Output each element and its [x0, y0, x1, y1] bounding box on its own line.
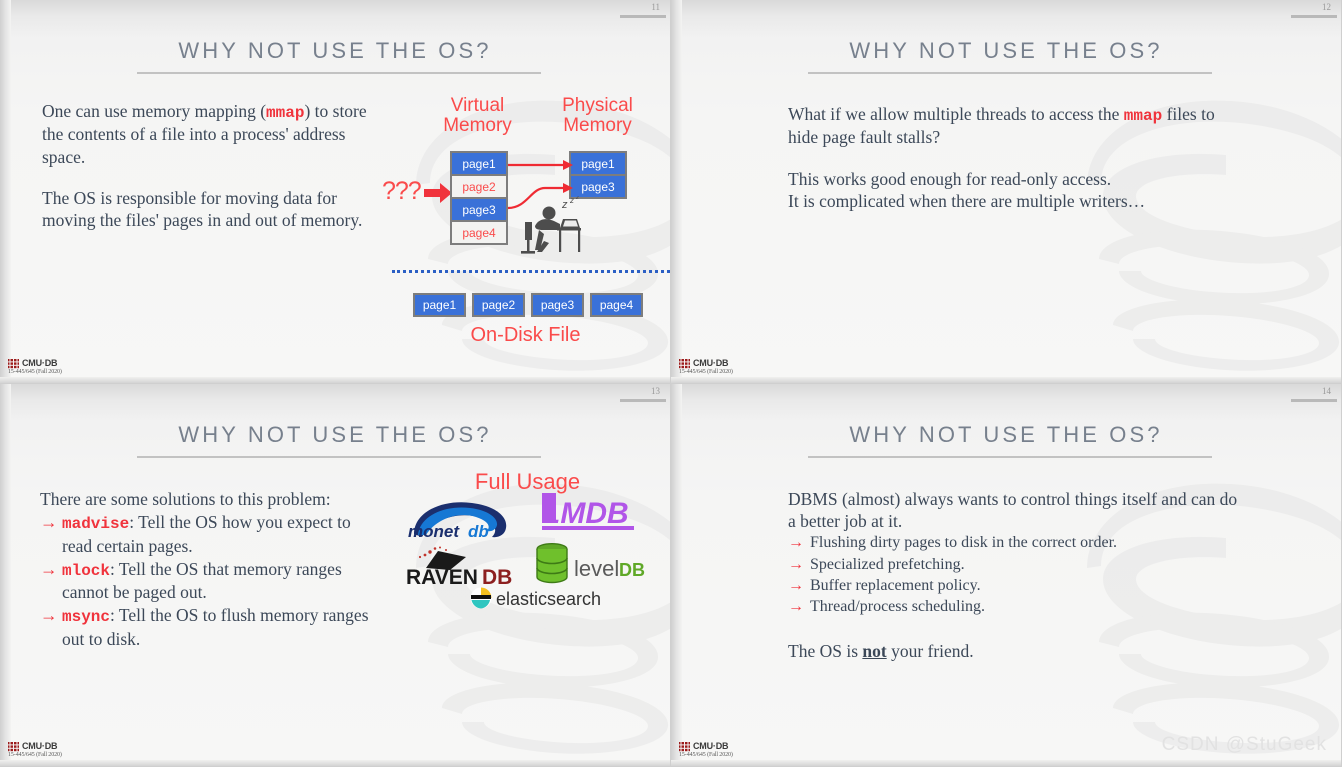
page-number: 13 — [651, 386, 660, 396]
closing-lead: The OS is — [788, 641, 862, 661]
svg-text:RAVEN: RAVEN — [406, 566, 478, 586]
course-label: 15-445/645 (Fall 2020) — [679, 752, 733, 758]
slide-12-body: What if we allow multiple threads to acc… — [788, 103, 1238, 212]
mlock-code: mlock — [62, 562, 110, 580]
slide-footer: CMU·DB 15-445/645 (Fall 2020) — [8, 740, 62, 758]
slide-grid: 11 WHY NOT USE THE OS? One can use memor… — [0, 0, 1342, 767]
closing-tail: your friend. — [887, 641, 974, 661]
monetdb-logo: monet db — [406, 497, 516, 547]
paragraph-2: The OS is responsible for moving data fo… — [42, 187, 387, 231]
page-number-rule — [620, 399, 666, 402]
bullet-text: Specialized prefetching. — [810, 556, 965, 573]
page-number-rule — [1291, 399, 1337, 402]
dbms-control-list: →Flushing dirty pages to disk in the cor… — [788, 533, 1238, 617]
list-item: →Flushing dirty pages to disk in the cor… — [788, 533, 1238, 553]
slide-13[interactable]: 13 WHY NOT USE THE OS? There are some so… — [0, 384, 671, 767]
virtual-page-stack: page1 page2 page3 page4 — [450, 153, 508, 245]
msync-code: msync — [62, 608, 110, 626]
mmap-code: mmap — [266, 104, 304, 122]
slide-footer: CMU·DB 15-445/645 (Fall 2020) — [679, 740, 733, 758]
sleeping-person-icon: z z z — [513, 196, 585, 263]
slide-11[interactable]: 11 WHY NOT USE THE OS? One can use memor… — [0, 0, 671, 384]
course-label: 15-445/645 (Fall 2020) — [8, 752, 62, 758]
lmdb-logo: LMDB — [540, 491, 638, 538]
virtual-page-4[interactable]: page4 — [450, 220, 508, 245]
physical-memory-label: PhysicalMemory — [545, 96, 650, 136]
closing-statement: The OS is not your friend. — [788, 640, 1238, 662]
arrow-glyph: → — [40, 604, 58, 626]
list-item: →msync: Tell the OS to flush memory rang… — [40, 604, 375, 650]
paragraph-2-line-2: It is complicated when there are multipl… — [788, 190, 1238, 212]
slide-11-body: One can use memory mapping (mmap) to sto… — [42, 100, 387, 231]
paragraph-1: One can use memory mapping (mmap) to sto… — [42, 100, 387, 168]
cmudb-logo-icon — [8, 357, 19, 368]
cmudb-logo-icon — [8, 740, 19, 751]
page-number: 12 — [1322, 2, 1331, 12]
para1-lead: One can use memory mapping ( — [42, 101, 266, 121]
arrow-glyph: → — [40, 558, 58, 580]
title-rule — [808, 456, 1212, 458]
slide-title: WHY NOT USE THE OS? — [0, 422, 670, 448]
cmudb-logo-icon — [679, 740, 690, 751]
svg-text:elasticsearch: elasticsearch — [496, 589, 601, 609]
slide-title: WHY NOT USE THE OS? — [671, 422, 1341, 448]
course-label: 15-445/645 (Fall 2020) — [8, 369, 62, 375]
slide-12[interactable]: 12 WHY NOT USE THE OS? What if we allow … — [671, 0, 1342, 384]
slide-title: WHY NOT USE THE OS? — [0, 38, 670, 64]
virtual-page-2[interactable]: page2 — [450, 174, 508, 199]
svg-text:z: z — [569, 196, 574, 205]
slide-footer: CMU·DB 15-445/645 (Fall 2020) — [8, 357, 62, 375]
page-number-rule — [1291, 15, 1337, 18]
bullet-text: Buffer replacement policy. — [810, 577, 981, 594]
elasticsearch-logo: elasticsearch — [470, 586, 620, 615]
svg-text:LMDB: LMDB — [542, 497, 629, 530]
disk-page-1[interactable]: page1 — [413, 293, 466, 317]
slide-footer: CMU·DB 15-445/645 (Fall 2020) — [679, 357, 733, 375]
page-number-rule — [620, 15, 666, 18]
mmap-code: mmap — [1124, 107, 1162, 125]
disk-page-3[interactable]: page3 — [531, 293, 584, 317]
virtual-page-1[interactable]: page1 — [450, 151, 508, 176]
arrow-glyph: → — [788, 533, 804, 553]
virtual-page-3[interactable]: page3 — [450, 197, 508, 222]
page-number: 14 — [1322, 386, 1331, 396]
arrow-glyph: → — [788, 555, 804, 575]
para1-close: ) — [304, 101, 310, 121]
slide-13-body: There are some solutions to this problem… — [40, 488, 375, 650]
virtual-memory-label: VirtualMemory — [425, 96, 530, 136]
bullet-text: Thread/process scheduling. — [810, 598, 985, 615]
title-rule — [137, 456, 541, 458]
slide-14-body: DBMS (almost) always wants to control th… — [788, 488, 1238, 662]
svg-text:db: db — [468, 522, 489, 541]
disk-divider — [392, 270, 670, 273]
list-item: →Buffer replacement policy. — [788, 576, 1238, 596]
list-item: →Specialized prefetching. — [788, 555, 1238, 575]
arrow-glyph: → — [40, 511, 58, 533]
cmudb-logo-text: CMU·DB — [22, 358, 57, 368]
solutions-list: →madvise: Tell the OS how you expect to … — [40, 511, 375, 650]
title-rule — [137, 72, 541, 74]
arrow-glyph: → — [788, 576, 804, 596]
para1-lead: What if we allow multiple threads to acc… — [788, 104, 1124, 124]
svg-text:z: z — [575, 196, 579, 201]
csdn-watermark: CSDN @StuGeek — [1162, 734, 1327, 756]
list-item: →madvise: Tell the OS how you expect to … — [40, 511, 375, 557]
cmudb-logo-text: CMU·DB — [22, 741, 57, 751]
closing-emphasis: not — [862, 641, 886, 661]
paragraph-2-line-1: This works good enough for read-only acc… — [788, 168, 1238, 190]
cmudb-logo-text: CMU·DB — [693, 358, 728, 368]
arrow-glyph: → — [788, 597, 804, 617]
lead-text: There are some solutions to this problem… — [40, 488, 375, 510]
svg-text:monet: monet — [408, 522, 460, 541]
paragraph-1: What if we allow multiple threads to acc… — [788, 103, 1238, 149]
bullet-text: Flushing dirty pages to disk in the corr… — [810, 534, 1117, 551]
disk-page-2[interactable]: page2 — [472, 293, 525, 317]
ravendb-logo: RAVEN DB — [404, 546, 526, 591]
svg-text:DB: DB — [482, 566, 512, 586]
course-label: 15-445/645 (Fall 2020) — [679, 369, 733, 375]
leveldb-logo: level DB — [532, 542, 650, 591]
disk-page-row: page1 page2 page3 page4 — [413, 293, 643, 317]
title-rule — [808, 72, 1212, 74]
page-number: 11 — [651, 2, 660, 12]
on-disk-file-label: On-Disk File — [413, 325, 638, 346]
list-item: →mlock: Tell the OS that memory ranges c… — [40, 558, 375, 604]
slide-title: WHY NOT USE THE OS? — [671, 38, 1341, 64]
cmudb-logo-text: CMU·DB — [693, 741, 728, 751]
madvise-code: madvise — [62, 515, 129, 533]
cmudb-logo-icon — [679, 357, 690, 368]
disk-page-4[interactable]: page4 — [590, 293, 643, 317]
svg-text:level: level — [574, 556, 619, 581]
list-item: →Thread/process scheduling. — [788, 597, 1238, 617]
svg-text:DB: DB — [619, 560, 645, 580]
question-marks: ??? — [382, 177, 421, 206]
slide-14[interactable]: 14 WHY NOT USE THE OS? DBMS (almost) alw… — [671, 384, 1342, 767]
lead-text: DBMS (almost) always wants to control th… — [788, 488, 1238, 532]
svg-text:z: z — [561, 199, 568, 211]
red-arrow-icon — [424, 183, 452, 208]
